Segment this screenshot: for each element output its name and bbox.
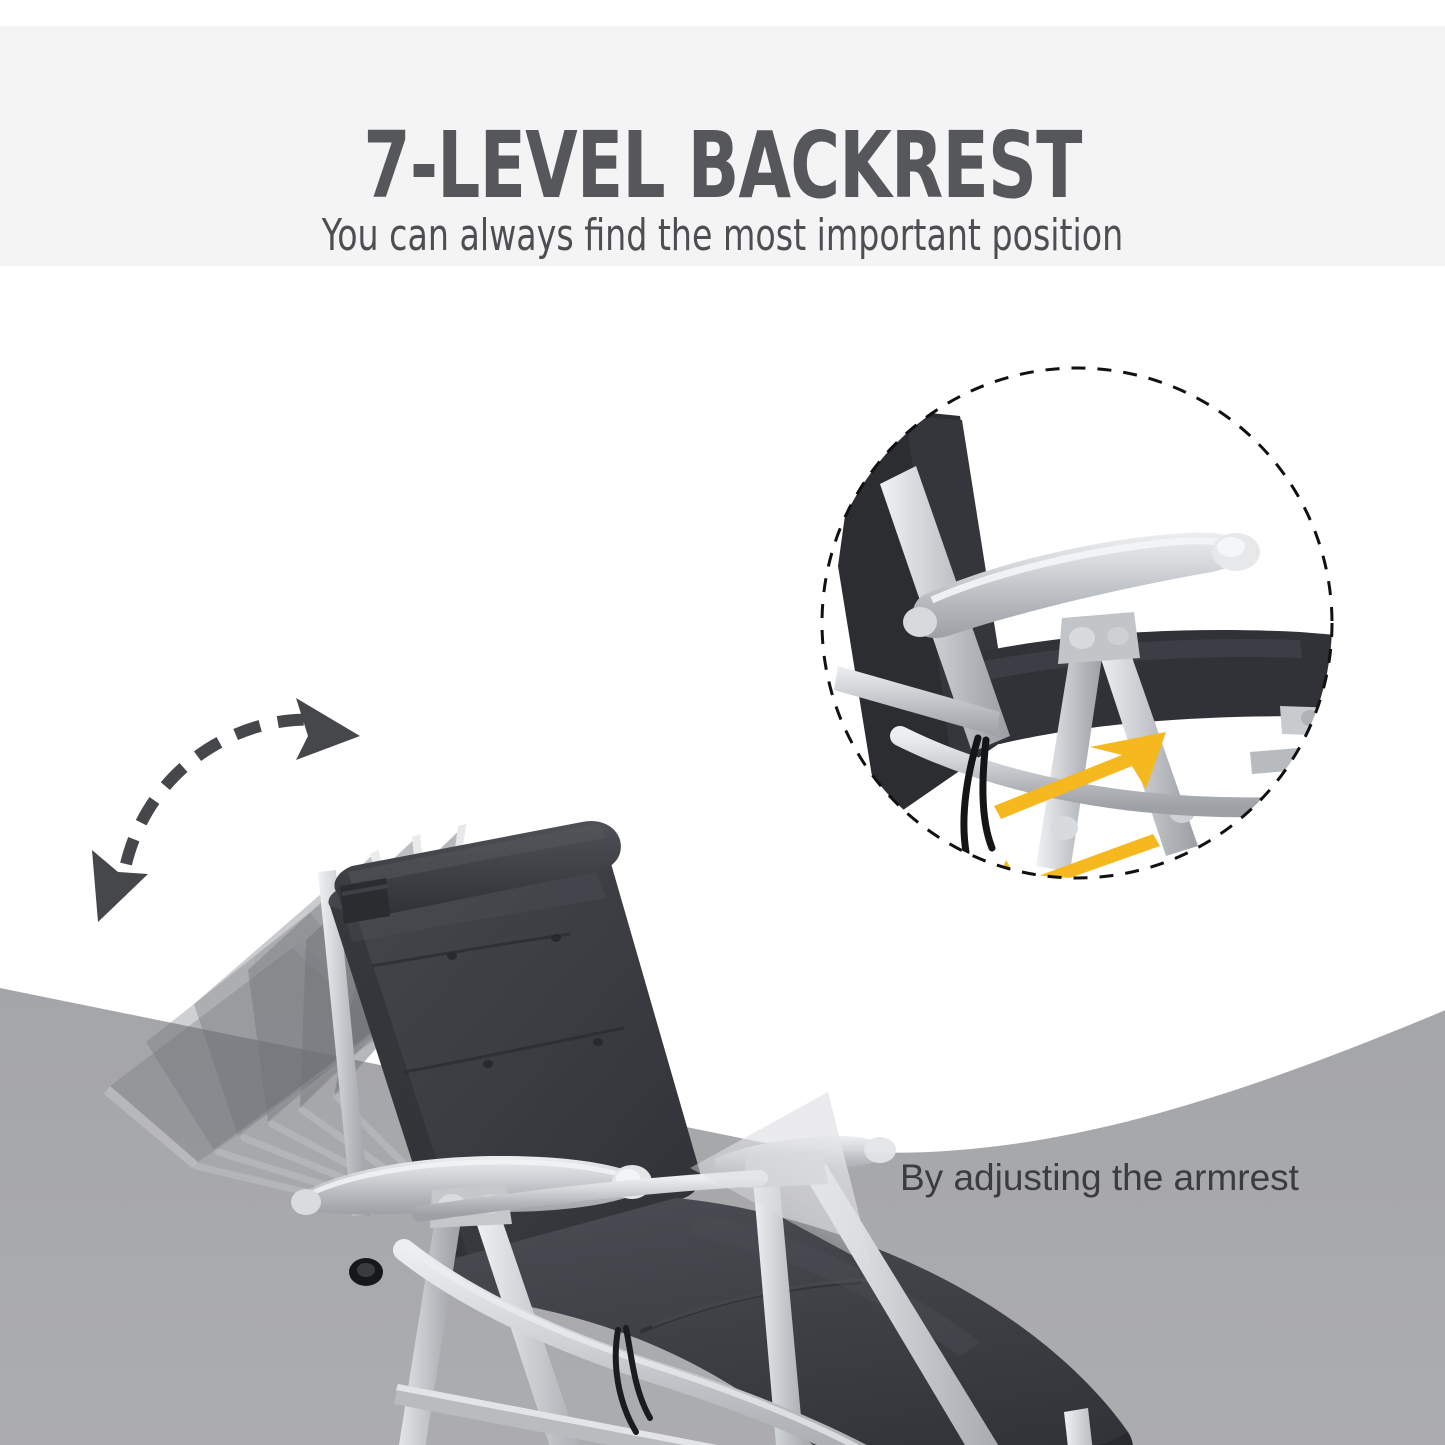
infographic-canvas: 7-LEVEL BACKREST You can always find the…: [0, 0, 1445, 1445]
pillow-strap: [340, 878, 390, 924]
inset-caption: By adjusting the armrest: [900, 1159, 1360, 1196]
product-scene: By adjusting the armrest: [0, 266, 1445, 1445]
page-title: 7-LEVEL BACKREST: [130, 120, 1315, 212]
armrest-detail-inset: [822, 368, 1352, 916]
page-subtitle: You can always find the most important p…: [116, 214, 1330, 258]
product-illustration: [0, 266, 1445, 1445]
